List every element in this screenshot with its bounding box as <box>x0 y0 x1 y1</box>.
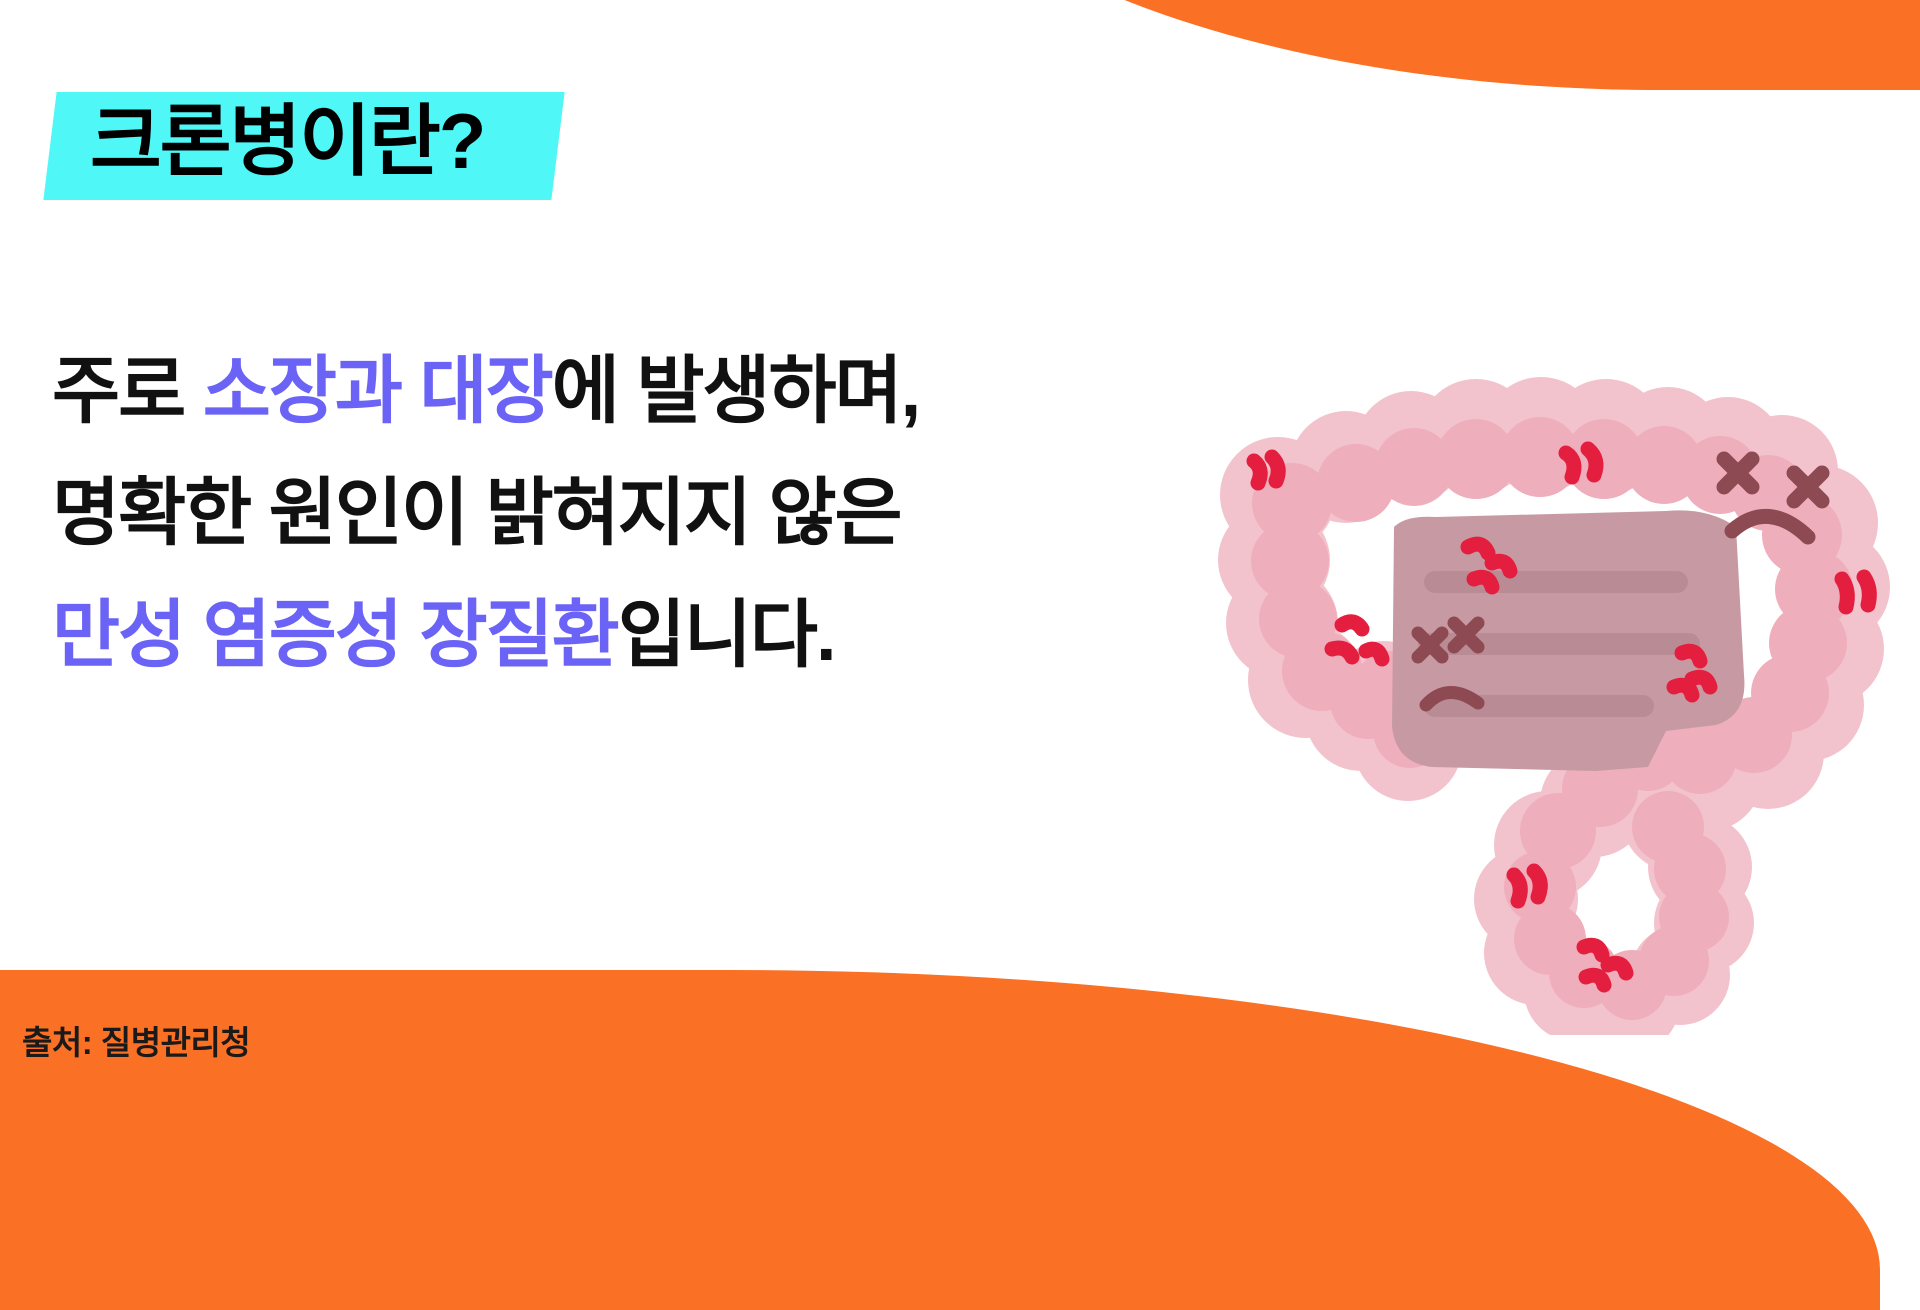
top-orange-decoration <box>880 0 1920 90</box>
source-label: 출처: 질병관리청 <box>22 1016 250 1064</box>
page-title: 크론병이란? <box>56 88 518 194</box>
left-eye-x-icon <box>1724 459 1752 487</box>
intestine-illustration <box>1196 375 1896 1035</box>
right-eye-x-icon <box>1794 473 1822 501</box>
body-line-2-segment-1: 명확한 원인이 밝혀지지 않은 <box>52 471 901 554</box>
body-line-3-segment-1-accent: 만성 염증성 장질환 <box>52 593 618 676</box>
body-line-1: 주로 소장과 대장에 발생하며, <box>52 330 1112 452</box>
body-copy: 주로 소장과 대장에 발생하며, 명확한 원인이 밝혀지지 않은 만성 염증성 … <box>52 330 1112 696</box>
body-line-2: 명확한 원인이 밝혀지지 않은 <box>52 452 1112 574</box>
body-line-1-segment-2-accent: 소장과 대장 <box>203 349 552 432</box>
body-line-3: 만성 염증성 장질환입니다. <box>52 574 1112 696</box>
body-line-1-segment-3: 에 발생하며, <box>552 349 920 432</box>
body-line-1-segment-1: 주로 <box>52 349 203 432</box>
title-block: 크론병이란? <box>56 88 518 194</box>
body-line-3-segment-2: 입니다. <box>618 593 835 676</box>
